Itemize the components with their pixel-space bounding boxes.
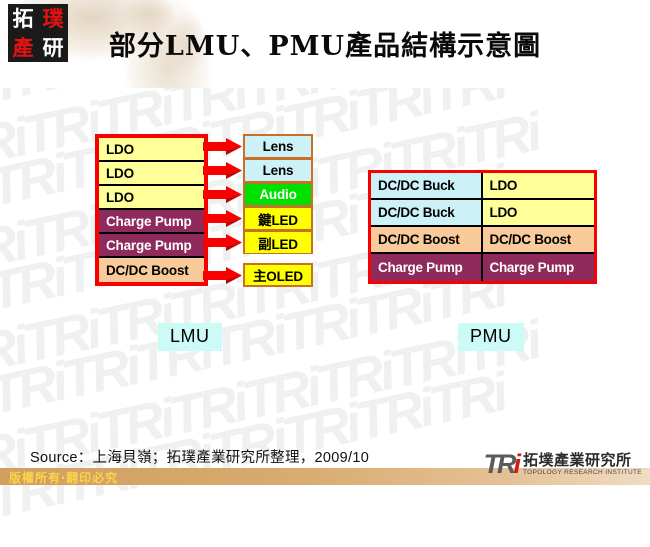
lmu-output-block-label: Audio xyxy=(259,187,296,202)
lmu-left-block[interactable]: LDO xyxy=(99,138,204,162)
pmu-block[interactable]: DC/DC Boost xyxy=(371,227,483,254)
pmu-row: DC/DC BuckLDO xyxy=(371,200,594,227)
pmu-block-label: DC/DC Boost xyxy=(490,232,571,247)
lmu-left-block[interactable]: Charge Pump xyxy=(99,234,204,258)
flow-arrow-icon xyxy=(203,234,243,251)
source-note: Source：上海貝嶺；拓璞產業研究所整理，2009/10 xyxy=(30,446,369,467)
lmu-output-block-label: Lens xyxy=(263,163,294,178)
lmu-output-block[interactable]: 副LED xyxy=(243,230,313,254)
pmu-block-label: LDO xyxy=(490,178,518,193)
lmu-left-block[interactable]: Charge Pump xyxy=(99,210,204,234)
pmu-block-label: Charge Pump xyxy=(490,260,574,275)
diagram-stage: LDOLDOLDOCharge PumpCharge PumpDC/DC Boo… xyxy=(0,88,650,433)
pmu-block[interactable]: DC/DC Buck xyxy=(371,200,483,227)
tri-institute-logo: TRi 拓墣產業研究所 TOPOLOGY RESEARCH INSTITUTE xyxy=(483,452,642,476)
lmu-output-block[interactable]: 主OLED xyxy=(243,263,313,287)
lmu-left-block-label: DC/DC Boost xyxy=(106,263,189,278)
pmu-block-label: DC/DC Buck xyxy=(378,178,455,193)
flow-arrow-icon xyxy=(203,267,243,284)
lmu-output-block[interactable]: Audio xyxy=(243,182,313,206)
lmu-left-block[interactable]: DC/DC Boost xyxy=(99,258,204,282)
pmu-block-label: Charge Pump xyxy=(378,260,462,275)
lmu-left-block-label: LDO xyxy=(106,142,134,157)
lmu-left-block-label: Charge Pump xyxy=(106,214,192,229)
pmu-block[interactable]: LDO xyxy=(483,200,595,227)
pmu-block-label: DC/DC Boost xyxy=(378,232,459,247)
pmu-block-label: LDO xyxy=(490,205,518,220)
pmu-row: DC/DC BuckLDO xyxy=(371,173,594,200)
lmu-left-block-label: LDO xyxy=(106,190,134,205)
tri-wordmark: TRi xyxy=(483,452,518,476)
pmu-block[interactable]: DC/DC Boost xyxy=(483,227,595,254)
lmu-output-block-label: Lens xyxy=(263,139,294,154)
pmu-block[interactable]: DC/DC Buck xyxy=(371,173,483,200)
lmu-left-stack: LDOLDOLDOCharge PumpCharge PumpDC/DC Boo… xyxy=(95,134,208,286)
tri-wordmark-tr: TR xyxy=(483,449,513,479)
copyright-text: 版權所有‧翻印必究 xyxy=(9,469,118,486)
flow-arrow-icon xyxy=(203,162,243,179)
lmu-left-block-label: Charge Pump xyxy=(106,238,192,253)
pmu-grid: DC/DC BuckLDODC/DC BuckLDODC/DC BoostDC/… xyxy=(368,170,597,284)
lmu-right-stack: LensLensAudio鍵LED副LED主OLED xyxy=(243,134,313,287)
lmu-output-block[interactable]: Lens xyxy=(243,134,313,158)
lmu-output-block[interactable]: Lens xyxy=(243,158,313,182)
lmu-caption: LMU xyxy=(158,323,222,351)
flow-arrow-icon xyxy=(203,186,243,203)
page-title: 部分LMU、PMU產品結構示意圖 xyxy=(0,24,650,63)
pmu-block[interactable]: Charge Pump xyxy=(483,254,595,281)
lmu-output-block-label: 副LED xyxy=(258,233,298,253)
lmu-left-block[interactable]: LDO xyxy=(99,162,204,186)
tri-wordmark-i: i xyxy=(513,449,518,479)
flow-arrow-icon xyxy=(203,210,243,227)
lmu-output-block-label: 主OLED xyxy=(253,265,303,285)
tri-name-block: 拓墣產業研究所 TOPOLOGY RESEARCH INSTITUTE xyxy=(523,453,642,477)
pmu-block[interactable]: Charge Pump xyxy=(371,254,483,281)
pmu-block-label: DC/DC Buck xyxy=(378,205,455,220)
pmu-row: Charge PumpCharge Pump xyxy=(371,254,594,281)
lmu-left-block-label: LDO xyxy=(106,166,134,181)
lmu-output-block[interactable]: 鍵LED xyxy=(243,206,313,230)
lmu-output-block-label: 鍵LED xyxy=(258,209,298,229)
tri-name-en: TOPOLOGY RESEARCH INSTITUTE xyxy=(523,470,642,477)
lmu-left-block[interactable]: LDO xyxy=(99,186,204,210)
pmu-caption: PMU xyxy=(458,323,524,351)
pmu-block[interactable]: LDO xyxy=(483,173,595,200)
tri-name-cn: 拓墣產業研究所 xyxy=(523,453,642,468)
flow-arrow-icon xyxy=(203,138,243,155)
pmu-row: DC/DC BoostDC/DC Boost xyxy=(371,227,594,254)
